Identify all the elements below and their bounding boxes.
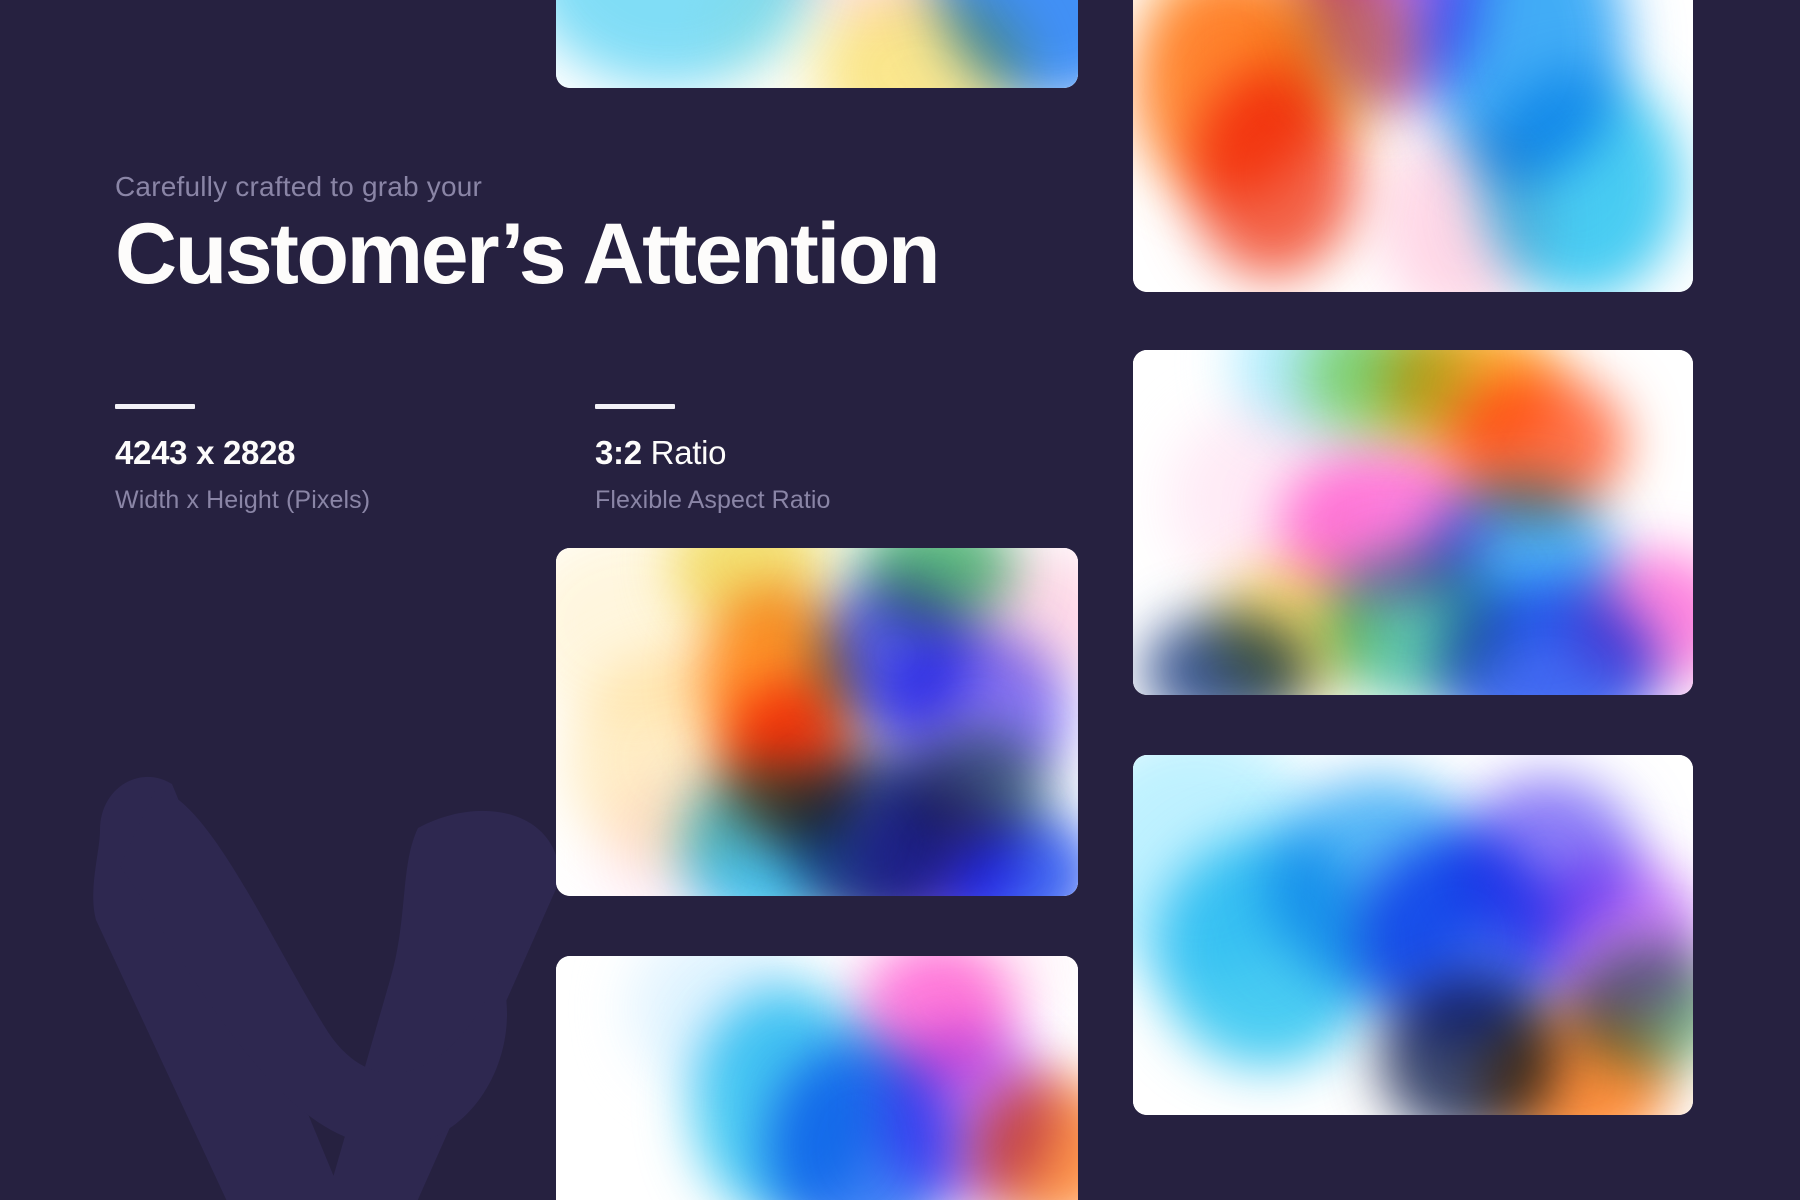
- artwork-image: [556, 548, 1078, 896]
- hero-eyebrow: Carefully crafted to grab your: [115, 170, 1095, 204]
- stat-caption: Flexible Aspect Ratio: [595, 486, 1075, 515]
- stat-value-rest: Ratio: [642, 434, 726, 471]
- artwork-card-right-center[interactable]: [1133, 350, 1693, 695]
- artwork-card-middle-bottom[interactable]: [556, 956, 1078, 1200]
- stat-value-strong: 4243 x 2828: [115, 434, 295, 471]
- artwork-image: [1133, 350, 1693, 695]
- artwork-image: [556, 0, 1078, 88]
- artwork-image: [556, 956, 1078, 1200]
- stat-value: 3:2 Ratio: [595, 433, 1075, 473]
- artwork-card-middle-top[interactable]: [556, 0, 1078, 88]
- stats-row: 4243 x 2828 Width x Height (Pixels) 3:2 …: [115, 404, 1095, 515]
- brand-v-watermark: [60, 770, 580, 1200]
- artwork-card-right-bottom[interactable]: [1133, 755, 1693, 1115]
- stat-value-strong: 3:2: [595, 434, 642, 471]
- artwork-card-middle-center[interactable]: [556, 548, 1078, 896]
- artwork-image: [1133, 0, 1693, 292]
- stat-ratio: 3:2 Ratio Flexible Aspect Ratio: [595, 404, 1075, 515]
- artwork-image: [1133, 755, 1693, 1115]
- hero-content: Carefully crafted to grab your Customer’…: [115, 170, 1095, 515]
- artwork-card-right-top[interactable]: [1133, 0, 1693, 292]
- stat-divider: [595, 404, 675, 409]
- stat-divider: [115, 404, 195, 409]
- stat-dimensions: 4243 x 2828 Width x Height (Pixels): [115, 404, 595, 515]
- stat-caption: Width x Height (Pixels): [115, 486, 595, 515]
- stat-value: 4243 x 2828: [115, 433, 595, 473]
- page-title: Customer’s Attention: [115, 210, 1095, 299]
